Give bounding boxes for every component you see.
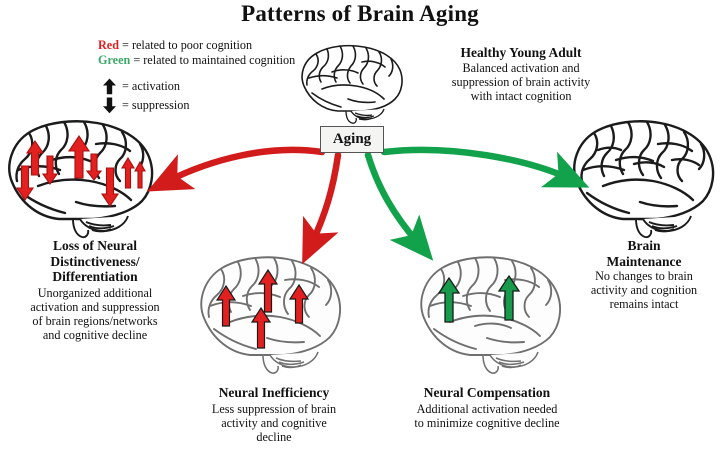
arrow-aging-to-loss: [168, 150, 322, 181]
desc-line: to minimize cognitive decline: [384, 416, 590, 430]
aging-node[interactable]: Aging: [320, 126, 384, 153]
legend-green-key: Green: [98, 53, 130, 67]
neural-inefficiency-title: Neural Inefficiency: [176, 385, 372, 401]
neural-inefficiency-desc: Less suppression of brain activity and c…: [176, 402, 372, 444]
figure-title: Patterns of Brain Aging: [0, 1, 720, 27]
brain-icon-neural-compensation: [415, 252, 567, 376]
desc-line: activation and suppression: [0, 300, 193, 314]
desc-line: with intact cognition: [410, 89, 632, 103]
desc-line: activity and cognition: [565, 283, 720, 297]
brain-maintenance-label: Brain Maintenance No changes to brain ac…: [565, 238, 720, 311]
arrow-aging-to-compensation: [368, 155, 418, 243]
desc-line: Balanced activation and: [410, 61, 632, 75]
arrow-aging-to-inefficiency: [312, 155, 338, 243]
desc-line: remains intact: [565, 297, 720, 311]
legend-red-key: Red: [98, 38, 119, 52]
brain-icon-healthy-young-adult: [296, 42, 408, 124]
legend-row-green: Green = related to maintained cognition: [98, 53, 328, 68]
figure-canvas: Patterns of Brain Aging Red = related to…: [0, 0, 720, 457]
legend: Red = related to poor cognition Green = …: [98, 38, 328, 115]
desc-line: and cognitive decline: [0, 328, 193, 342]
neural-compensation-title: Neural Compensation: [384, 385, 590, 401]
arrow-aging-to-maintenance: [384, 150, 568, 178]
brain-maintenance-title: Brain Maintenance: [565, 238, 720, 269]
desc-line: activity and cognitive: [176, 416, 372, 430]
neural-inefficiency-label: Neural Inefficiency Less suppression of …: [176, 385, 372, 444]
desc-line: Additional activation needed: [384, 402, 590, 416]
desc-line: suppression of brain activity: [410, 75, 632, 89]
brain-icon-neural-inefficiency: [195, 252, 347, 376]
desc-line: Less suppression of brain: [176, 402, 372, 416]
desc-line: Unorganized additional: [0, 286, 193, 300]
title-line: Distinctiveness/: [0, 254, 193, 270]
neural-compensation-label: Neural Compensation Additional activatio…: [384, 385, 590, 430]
title-line: Differentiation: [0, 269, 193, 285]
down-arrow-icon: [98, 97, 120, 114]
legend-row-red: Red = related to poor cognition: [98, 38, 328, 53]
aging-node-label: Aging: [333, 131, 371, 148]
brain-icon-brain-maintenance: [568, 116, 720, 240]
healthy-young-adult-title: Healthy Young Adult: [410, 45, 632, 61]
brain-icon-loss-of-neural-distinctiveness: [2, 116, 160, 240]
title-line: Maintenance: [565, 254, 720, 270]
healthy-young-adult-desc: Balanced activation and suppression of b…: [410, 61, 632, 103]
loss-of-neural-distinctiveness-desc: Unorganized additional activation and su…: [0, 286, 193, 342]
title-line: Loss of Neural: [0, 238, 193, 254]
desc-line: decline: [176, 430, 372, 444]
legend-green-text: = related to maintained cognition: [130, 53, 295, 67]
legend-arrow-group: = activation = suppression: [98, 77, 328, 115]
up-arrow-icon: [98, 78, 120, 95]
legend-red-text: = related to poor cognition: [119, 38, 252, 52]
brain-maintenance-desc: No changes to brain activity and cogniti…: [565, 269, 720, 311]
loss-of-neural-distinctiveness-title: Loss of Neural Distinctiveness/ Differen…: [0, 238, 193, 285]
desc-line: of brain regions/networks: [0, 314, 193, 328]
healthy-young-adult-label: Healthy Young Adult Balanced activation …: [410, 45, 632, 103]
loss-of-neural-distinctiveness-label: Loss of Neural Distinctiveness/ Differen…: [0, 238, 193, 342]
legend-suppression-label: = suppression: [122, 98, 189, 113]
desc-line: No changes to brain: [565, 269, 720, 283]
title-line: Brain: [565, 238, 720, 254]
neural-compensation-desc: Additional activation needed to minimize…: [384, 402, 590, 430]
legend-row-suppression: = suppression: [98, 96, 328, 115]
legend-activation-label: = activation: [122, 79, 180, 94]
legend-row-activation: = activation: [98, 77, 328, 96]
